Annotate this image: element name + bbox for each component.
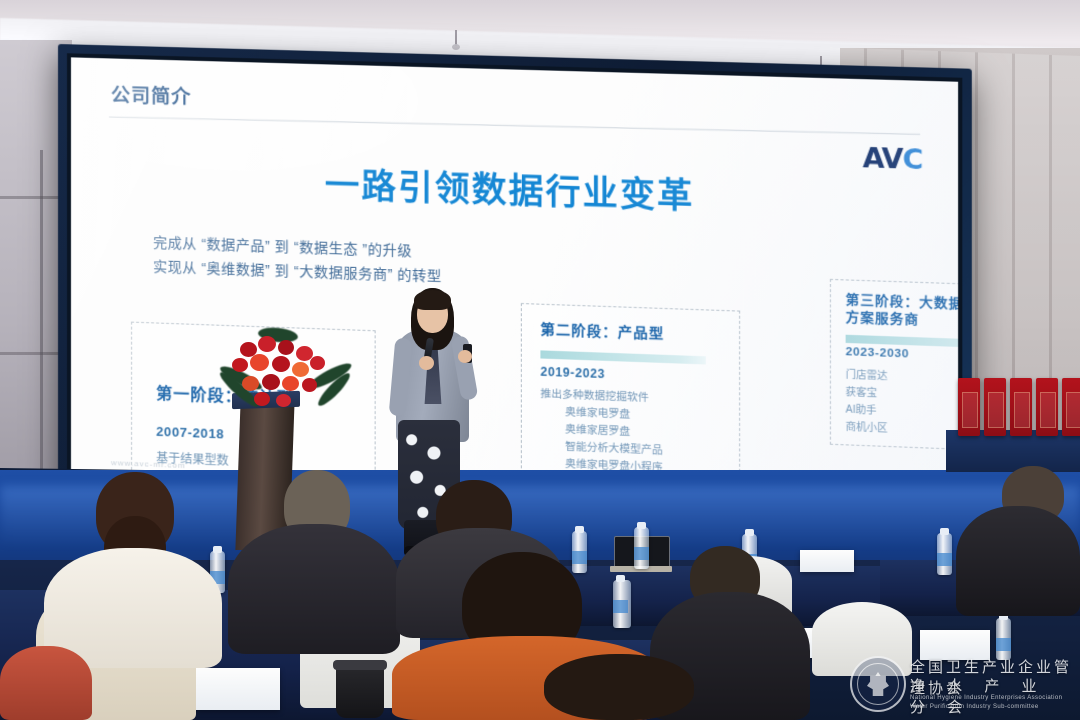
flower-arrangement	[224, 332, 348, 418]
association-seal-icon	[850, 656, 906, 712]
coffee-cup	[336, 660, 384, 718]
presentation-slide: 公司简介 AVC 一路引领数据行业变革 完成从 “数据产品” 到 “数据生态 ”…	[71, 57, 958, 513]
projection-screen: 公司简介 AVC 一路引领数据行业变革 完成从 “数据产品” 到 “数据生态 ”…	[58, 44, 972, 529]
presenter-hair-front	[414, 290, 451, 310]
award-box	[1062, 378, 1080, 436]
phase-card-3: 第三阶段：大数据解决方案服务商 2023-2030 门店雷达 获客宝 AI助手 …	[830, 279, 958, 452]
slide-title: 一路引领数据行业变革	[71, 149, 958, 226]
water-bottle	[572, 531, 587, 573]
slide-footer-url: www.avc-mr.com	[111, 458, 186, 470]
watermark-line-3: National Hygiene Industry Enterprises As…	[910, 695, 1062, 701]
slide-kicker: 公司简介	[111, 80, 191, 109]
water-bottle	[634, 527, 649, 569]
slide-lead: 完成从 “数据产品” 到 “数据生态 ”的升级 实现从 “奥维数据” 到 “大数…	[153, 230, 442, 288]
award-box	[984, 378, 1006, 436]
pendant-light	[455, 30, 457, 46]
name-card	[196, 668, 280, 710]
award-box	[1010, 378, 1032, 436]
presenter-hand-clicker	[458, 350, 472, 363]
left-wall-seam	[40, 150, 43, 480]
name-card	[800, 550, 854, 572]
watermark-line-4: Water Purification Industry Sub-committe…	[910, 704, 1039, 710]
presenter-hand-mic	[419, 356, 434, 370]
phase-3-list: 门店雷达 获客宝 AI助手 商机小区	[846, 366, 888, 437]
phase-2-accent-bar	[540, 350, 705, 364]
water-bottle	[937, 533, 952, 575]
watermark: 全国卫生产业企业管理协会 净 水 产 业 分 会 National Hygien…	[846, 648, 1072, 714]
slide-kicker-rule	[109, 116, 920, 134]
phase-3-years: 2023-2030	[846, 346, 909, 361]
phase-3-item: AI助手	[846, 401, 888, 420]
water-bottle	[613, 580, 631, 628]
avc-logo-accent: C	[902, 144, 922, 176]
avc-logo-text: AV	[863, 143, 903, 176]
award-box	[1036, 378, 1058, 436]
phase-3-heading: 第三阶段：大数据解决方案服务商	[846, 291, 958, 331]
phase-card-2: 第二阶段：产品型 2019-2023 推出多种数据挖掘软件 奥维家电罗盘 奥维家…	[521, 303, 740, 482]
conference-photo: 公司简介 AVC 一路引领数据行业变革 完成从 “数据产品” 到 “数据生态 ”…	[0, 0, 1080, 720]
phase-2-years: 2019-2023	[540, 365, 605, 382]
phase-2-heading: 第二阶段：产品型	[540, 319, 664, 344]
award-table	[946, 430, 1080, 472]
phase-2-list: 推出多种数据挖掘软件 奥维家电罗盘 奥维家居罗盘 智能分析大模型产品 奥维家电罗…	[540, 386, 662, 477]
phase-3-item: 获客宝	[846, 384, 888, 403]
phase-3-item: 商机小区	[846, 419, 888, 438]
award-box	[958, 378, 980, 436]
phase-3-item: 门店雷达	[846, 366, 888, 385]
phase-1-years: 2007-2018	[156, 424, 224, 442]
avc-logo: AVC	[863, 143, 923, 177]
